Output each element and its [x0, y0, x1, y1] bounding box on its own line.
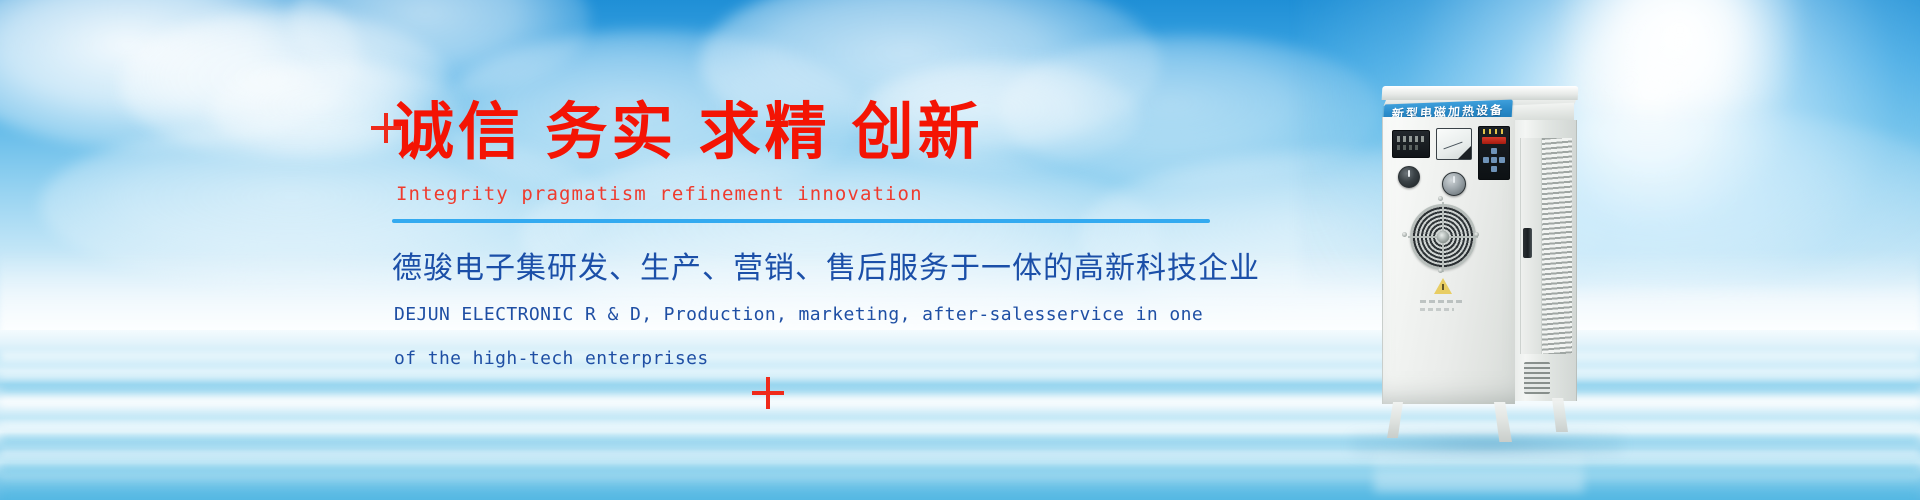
gauge-needle-icon — [1443, 142, 1462, 150]
machine-reflection — [1374, 446, 1584, 492]
digital-display — [1392, 130, 1430, 158]
keypad-key-up[interactable] — [1491, 148, 1497, 154]
display-segment — [1397, 145, 1419, 150]
water-streak — [0, 422, 1920, 429]
subtitle-english-line-2: of the high-tech enterprises — [394, 343, 1292, 375]
screw-icon — [1438, 268, 1443, 273]
hero-banner: 诚信 务实 求精 创新 Integrity pragmatism refinem… — [0, 0, 1920, 500]
banner-copy: 诚信 务实 求精 创新 Integrity pragmatism refinem… — [392, 96, 1292, 374]
keypad-key-down[interactable] — [1491, 166, 1497, 172]
headline-english: Integrity pragmatism refinement innovati… — [396, 183, 1292, 205]
water-streak — [0, 490, 1920, 500]
keypad-led-readout — [1482, 137, 1506, 144]
machine-top-edge — [1382, 86, 1579, 100]
keypad-keys[interactable] — [1483, 148, 1505, 175]
water-streak — [0, 386, 1920, 393]
water-streak — [0, 436, 1920, 445]
door-handle[interactable] — [1523, 228, 1532, 258]
warning-triangle-icon — [1434, 278, 1452, 294]
machine-label-text — [1420, 300, 1462, 303]
keypad-key-enter[interactable] — [1491, 157, 1497, 163]
keypad-indicator-lights — [1483, 129, 1505, 134]
screw-icon — [1438, 196, 1443, 201]
water-streak — [0, 448, 1920, 458]
subtitle-english-line-1: DEJUN ELECTRONIC R & D, Production, mark… — [394, 299, 1292, 331]
plus-marker-icon — [752, 377, 784, 409]
keypad-key-left[interactable] — [1483, 157, 1489, 163]
selector-knob[interactable] — [1398, 166, 1420, 188]
screw-icon — [1474, 232, 1479, 237]
sun-core — [1560, 0, 1800, 110]
screw-icon — [1402, 232, 1407, 237]
water-streak — [0, 474, 1920, 480]
water-streak — [0, 396, 1920, 408]
rotary-knob[interactable] — [1442, 172, 1466, 196]
analog-gauge — [1436, 128, 1472, 160]
fan-hub — [1437, 231, 1449, 243]
display-segment — [1397, 136, 1425, 142]
control-keypad[interactable] — [1478, 126, 1510, 180]
ventilation-louvers — [1542, 138, 1572, 354]
cooling-fan-grille — [1410, 204, 1476, 270]
keypad-key-right[interactable] — [1499, 157, 1505, 163]
subtitle-chinese: 德骏电子集研发、生产、营销、售后服务于一体的高新科技企业 — [392, 243, 1292, 287]
lower-vent-grille — [1524, 362, 1550, 394]
divider-rule — [392, 219, 1210, 223]
headline-chinese: 诚信 务实 求精 创新 — [392, 96, 1292, 169]
machine-label-text — [1420, 308, 1454, 311]
